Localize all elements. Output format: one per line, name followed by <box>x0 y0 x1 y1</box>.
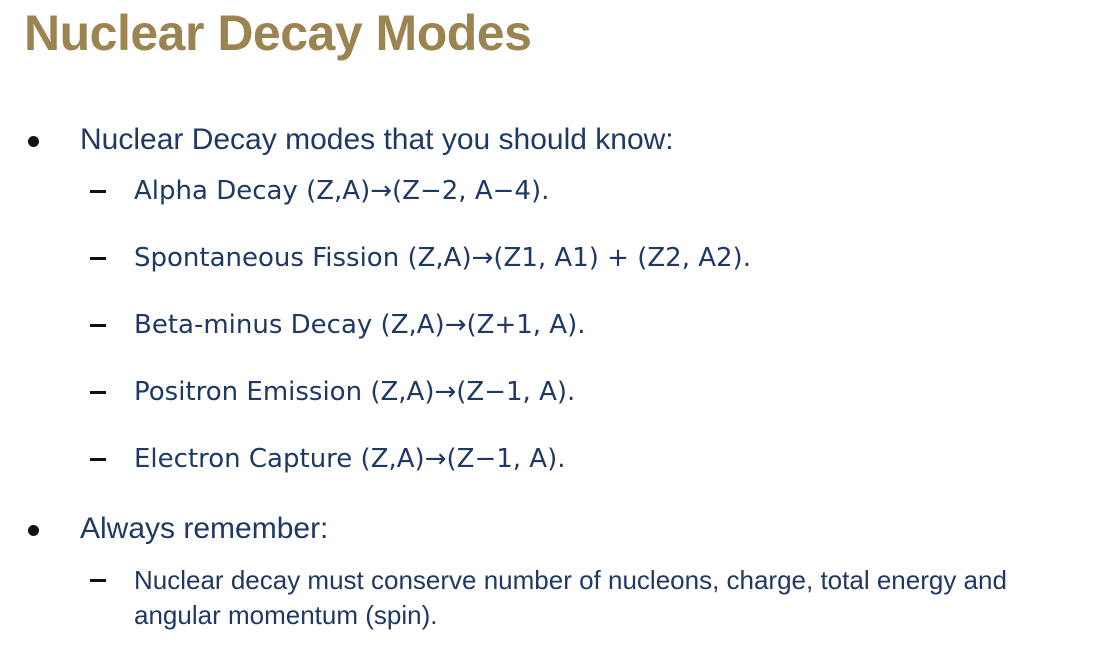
list-item-label: Alpha Decay (Z,A)→(Z−2, A−4). <box>134 174 1096 208</box>
list-item-label: Spontaneous Fission (Z,A)→(Z1, A1) + (Z2… <box>134 241 1096 275</box>
disc-bullet-icon <box>28 136 39 147</box>
list-item-label: Positron Emission (Z,A)→(Z−1, A). <box>134 375 1096 409</box>
list-item: Beta-minus Decay (Z,A)→(Z+1, A). <box>0 308 1118 342</box>
slide-body: Nuclear Decay modes that you should know… <box>0 120 1118 633</box>
page-title: Nuclear Decay Modes <box>24 2 531 64</box>
dash-bullet-icon <box>90 190 106 193</box>
list-item-label: Beta-minus Decay (Z,A)→(Z+1, A). <box>134 308 1096 342</box>
dash-bullet-icon <box>90 257 106 260</box>
list-item: Always remember: <box>0 509 1118 549</box>
list-item: Nuclear Decay modes that you should know… <box>0 120 1118 160</box>
dash-bullet-icon <box>90 458 106 461</box>
list-item: Electron Capture (Z,A)→(Z−1, A). <box>0 442 1118 476</box>
list-item-label: Electron Capture (Z,A)→(Z−1, A). <box>134 442 1096 476</box>
list-item-label: Always remember: <box>80 509 1118 549</box>
list-item: Nuclear decay must conserve number of nu… <box>0 563 1118 633</box>
list-item-label: Nuclear decay must conserve number of nu… <box>134 563 1096 633</box>
list-item: Alpha Decay (Z,A)→(Z−2, A−4). <box>0 174 1118 208</box>
list-item: Positron Emission (Z,A)→(Z−1, A). <box>0 375 1118 409</box>
list-item: Spontaneous Fission (Z,A)→(Z1, A1) + (Z2… <box>0 241 1118 275</box>
dash-bullet-icon <box>90 324 106 327</box>
disc-bullet-icon <box>28 525 39 536</box>
dash-bullet-icon <box>90 579 106 582</box>
dash-bullet-icon <box>90 391 106 394</box>
slide-canvas: Nuclear Decay Modes Nuclear Decay modes … <box>0 0 1118 663</box>
list-item-label: Nuclear Decay modes that you should know… <box>80 120 1118 160</box>
